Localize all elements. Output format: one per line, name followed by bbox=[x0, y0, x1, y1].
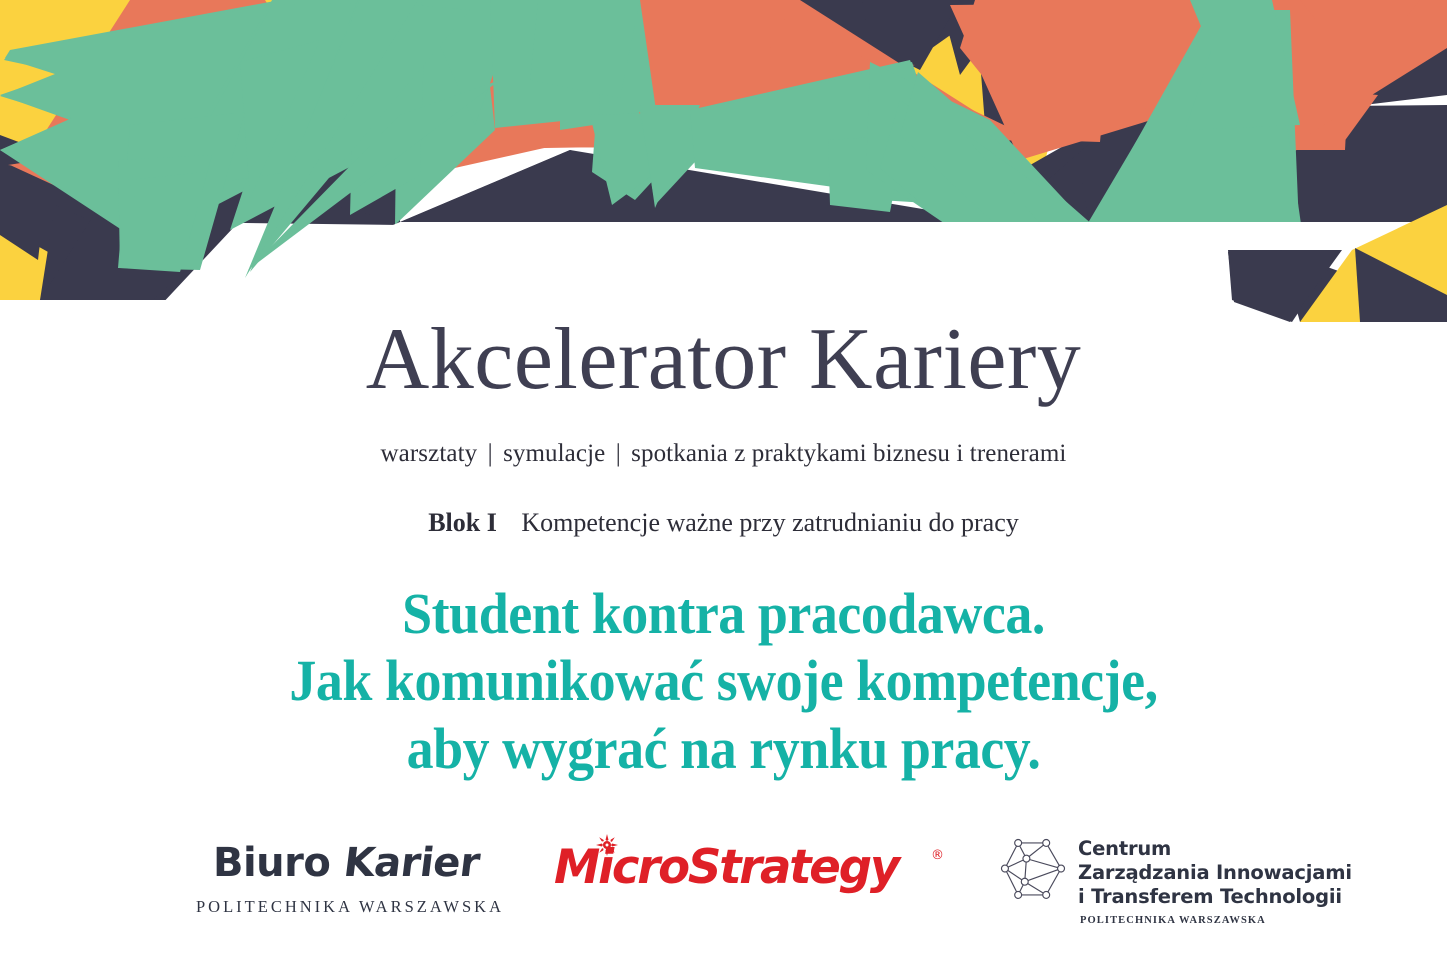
block-label: Blok I bbox=[428, 508, 497, 537]
cziitt-institution: POLITECHNIKA WARSZAWSKA bbox=[1080, 915, 1352, 926]
tagline-part-3: spotkania z praktykami biznesu i trenera… bbox=[631, 440, 1066, 467]
block-topic: Kompetencje ważne przy zatrudnianiu do p… bbox=[521, 508, 1018, 537]
page-title: Akcelerator Kariery bbox=[0, 316, 1447, 404]
block-line: Blok I Kompetencje ważne przy zatrudnian… bbox=[0, 508, 1447, 538]
cziitt-line-3: i Transferem Technologii bbox=[1078, 885, 1352, 909]
biuro-karier-name-part-1: Biuro bbox=[213, 840, 344, 886]
network-graph-icon bbox=[1000, 834, 1066, 908]
geometric-banner bbox=[0, 0, 1447, 340]
headline-line-2: Jak komunikować swoje kompetencje, bbox=[51, 647, 1397, 714]
headline-line-3: aby wygrać na rynku pracy. bbox=[51, 715, 1397, 782]
biuro-karier-name-part-2: Karier bbox=[341, 840, 482, 886]
microstrategy-registered-mark: ® bbox=[931, 848, 944, 863]
logo-strip: Biuro Karier POLITECHNIKA WARSZAWSKA Mic… bbox=[0, 828, 1447, 948]
biuro-karier-wordmark: Biuro Karier bbox=[196, 840, 496, 886]
poster: Akcelerator Kariery warsztaty | symulacj… bbox=[0, 0, 1447, 979]
logo-cziitt: Centrum Zarządzania Innowacjami i Transf… bbox=[1000, 834, 1352, 926]
headline: Student kontra pracodawca. Jak komunikow… bbox=[51, 580, 1397, 782]
biuro-karier-institution: POLITECHNIKA WARSZAWSKA bbox=[196, 897, 496, 917]
logo-microstrategy: MicroStrategy ® bbox=[548, 838, 948, 900]
banner-shapes bbox=[0, 0, 1447, 340]
tagline: warsztaty | symulacje | spotkania z prak… bbox=[0, 440, 1447, 468]
cziitt-line-1: Centrum bbox=[1078, 837, 1352, 861]
tagline-part-1: warsztaty bbox=[381, 440, 478, 467]
microstrategy-star-icon bbox=[596, 834, 618, 856]
tagline-separator-1: | bbox=[484, 440, 497, 467]
tagline-separator-2: | bbox=[612, 440, 625, 467]
cziitt-line-2: Zarządzania Innowacjami bbox=[1078, 861, 1352, 885]
logo-biuro-karier: Biuro Karier POLITECHNIKA WARSZAWSKA bbox=[196, 840, 496, 917]
headline-line-1: Student kontra pracodawca. bbox=[51, 580, 1397, 647]
tagline-part-2: symulacje bbox=[503, 440, 605, 467]
